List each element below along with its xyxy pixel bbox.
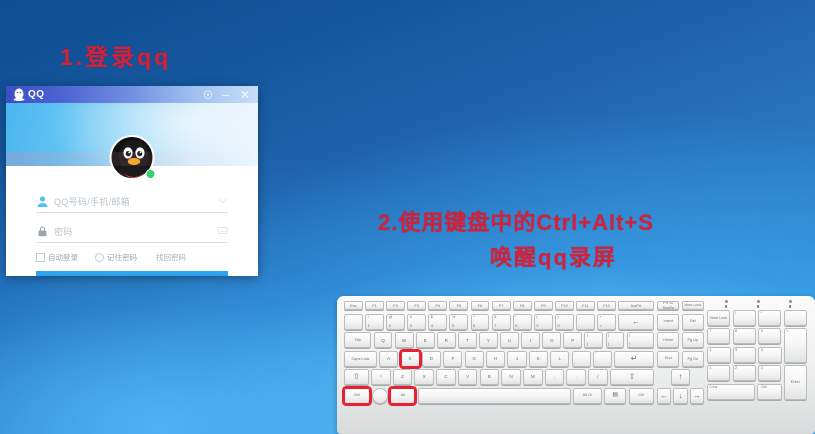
numpad-key-num-lock-label: Num Lock	[710, 316, 727, 320]
key-windows[interactable]	[372, 388, 388, 404]
edit-row-prtsc: Prt Sc SysRq Num Lock	[657, 301, 704, 310]
key-g[interactable]: G	[465, 351, 484, 367]
key-7-shift-label: &	[494, 316, 496, 320]
numpad-key-divide[interactable]: /	[733, 310, 756, 326]
key-f6[interactable]: F6	[471, 301, 490, 310]
key-page-up[interactable]: Pg Up	[682, 332, 704, 348]
key-shift-left[interactable]: ⇧	[344, 369, 369, 385]
key-f11[interactable]: F11	[576, 301, 595, 310]
num-lock-led-icon	[725, 300, 728, 308]
key-9-shift-label: (	[536, 316, 537, 320]
screenshot-root: 1.登录qq QQ	[0, 0, 815, 434]
key-4-label: 4	[431, 324, 433, 328]
key-page-down[interactable]: Pg Dn	[682, 351, 704, 367]
key-bracket-right[interactable]: } ]	[606, 332, 625, 348]
key-esc[interactable]: Esc	[344, 301, 363, 310]
numpad-key-8[interactable]: 8	[733, 328, 756, 344]
numpad-row-3: 4 5 6	[707, 347, 782, 363]
key-num-lock-toggle-label: Num Lock	[684, 303, 701, 307]
key-1-shift-label: !	[368, 316, 369, 320]
key-0-label: 0	[557, 324, 559, 328]
key-insert-print[interactable]: InsPrt	[618, 301, 654, 310]
keyboard-bottom-letter-row: ⇧ < Z X C V B N M , . / ⇧	[344, 369, 654, 385]
key-1-label: 1	[368, 324, 370, 328]
key-delete[interactable]: Del	[682, 314, 704, 330]
password-input-row[interactable]: 密码	[36, 220, 228, 243]
key-print-screen[interactable]: Prt Sc SysRq	[657, 301, 679, 310]
key-caps-lock-label: Caps Lock	[351, 357, 369, 361]
keyboard-qwerty-row: Tab Q W E R T Y U I O P { [ } ]	[344, 332, 654, 348]
key-9[interactable]: ( 9	[534, 314, 553, 330]
numpad-key-9[interactable]: 9	[758, 328, 781, 344]
key-y[interactable]: Y	[479, 332, 498, 348]
key-backtick-label: `	[347, 324, 348, 328]
arrow-spacer-right	[692, 369, 704, 385]
qq-login-options: 自动登录 记住密码 找回密码	[36, 252, 228, 263]
numpad-key-9-label: 9	[761, 330, 763, 334]
key-s[interactable]: S	[401, 351, 420, 367]
numpad-key-5[interactable]: 5	[733, 347, 757, 363]
key-enter[interactable]: ↵	[614, 351, 654, 367]
key-o[interactable]: O	[542, 332, 561, 348]
key-2[interactable]: @ 2	[386, 314, 405, 330]
key-4-shift-label: $	[431, 316, 433, 320]
caption-step-1: 1.登录qq	[60, 38, 171, 72]
key-7-label: 7	[494, 324, 496, 328]
key-l[interactable]: L	[550, 351, 569, 367]
numpad-key-3[interactable]: 3	[758, 365, 781, 381]
key-ctrl-right[interactable]: Ctrl	[629, 388, 655, 404]
key-home[interactable]: Home	[657, 332, 679, 348]
key-x[interactable]: X	[414, 369, 434, 385]
key-h[interactable]: H	[486, 351, 505, 367]
login-button[interactable]: 登录	[36, 271, 228, 276]
key-semicolon-label: ;	[574, 361, 575, 365]
numpad-key-1-label: 1	[710, 367, 712, 371]
auto-login-label: 自动登录	[48, 252, 78, 263]
numpad-key-6[interactable]: 6	[758, 347, 782, 363]
numpad-key-multiply-label: *	[761, 312, 762, 316]
key-bracket-left[interactable]: { [	[584, 332, 603, 348]
key-backslash-shift-label: |	[629, 334, 630, 338]
numpad-key-7[interactable]: 7	[707, 328, 730, 344]
key-6-shift-label: ^	[473, 316, 475, 320]
key-8-label: 8	[515, 324, 517, 328]
key-comma[interactable]: ,	[545, 369, 565, 385]
key-c[interactable]: C	[436, 369, 456, 385]
numpad-key-add[interactable]: +	[784, 328, 807, 362]
user-icon	[36, 195, 49, 208]
caption-step-2-line-2: 唤醒qq录屏	[490, 240, 617, 272]
remember-password-checkbox-box[interactable]	[95, 253, 104, 262]
key-caps-lock[interactable]: Caps Lock	[344, 351, 377, 367]
keyboard-number-row: ~ ` ! 1 @ 2 # 3 $ 4	[344, 314, 654, 330]
numpad-key-5-label: 5	[735, 349, 737, 353]
key-3[interactable]: # 3	[407, 314, 426, 330]
key-minus-shift-label: _	[579, 316, 581, 320]
minimize-icon[interactable]	[220, 89, 232, 100]
key-backslash-label: \	[629, 342, 630, 346]
numpad-key-enter[interactable]: Enter	[784, 365, 807, 399]
key-p[interactable]: P	[563, 332, 582, 348]
key-arrow-down[interactable]: ↓	[673, 388, 687, 404]
qq-login-form: QQ号码/手机/邮箱 密码 自动登录	[6, 190, 258, 276]
key-period[interactable]: .	[566, 369, 586, 385]
key-menu[interactable]: ▤	[604, 388, 626, 404]
key-arrow-left[interactable]: ←	[657, 388, 671, 404]
key-angle-bracket[interactable]: <	[371, 369, 391, 385]
numpad-key-8-label: 8	[735, 330, 737, 334]
remember-password-checkbox[interactable]: 记住密码	[95, 252, 137, 263]
key-slash[interactable]: /	[588, 369, 608, 385]
key-arrow-up[interactable]: ↑	[671, 369, 690, 385]
auto-login-checkbox[interactable]: 自动登录	[36, 252, 78, 263]
numpad-key-4-label: 4	[710, 349, 712, 353]
key-f5[interactable]: F5	[449, 301, 468, 310]
key-tab[interactable]: Tab	[344, 332, 371, 348]
key-b[interactable]: B	[480, 369, 500, 385]
numpad-key-0[interactable]: 0 Ins	[707, 384, 755, 400]
key-equals[interactable]: + =	[597, 314, 616, 330]
account-input-placeholder: QQ号码/手机/邮箱	[54, 195, 130, 208]
keyboard-home-row: Caps Lock A S D F G H J K L : ; " '	[344, 351, 654, 367]
key-quote[interactable]: " '	[593, 351, 612, 367]
numpad-key-2-label: 2	[735, 367, 737, 371]
keyboard-illustration: Esc F1 F2 F3 F4 F5 F6 F7 F8 F9 F10 F11 F…	[337, 296, 815, 434]
numpad-key-add-label: +	[786, 330, 788, 334]
qq-app-name: QQ	[28, 89, 45, 100]
key-quote-shift-label: "	[595, 353, 596, 357]
key-equals-shift-label: +	[600, 316, 602, 320]
key-j[interactable]: J	[507, 351, 526, 367]
key-z[interactable]: Z	[393, 369, 413, 385]
settings-gear-icon[interactable]	[202, 89, 214, 100]
close-icon[interactable]	[239, 89, 251, 100]
key-f2[interactable]: F2	[386, 301, 405, 310]
key-r[interactable]: R	[437, 332, 456, 348]
key-bracket-left-shift-label: {	[587, 334, 588, 338]
key-f12[interactable]: F12	[597, 301, 616, 310]
key-f3[interactable]: F3	[407, 301, 426, 310]
key-e[interactable]: E	[416, 332, 435, 348]
key-semicolon-shift-label: :	[574, 353, 575, 357]
auto-login-checkbox-box[interactable]	[36, 253, 45, 262]
key-equals-label: =	[600, 324, 602, 328]
key-print-screen-label: Prt Sc SysRq	[658, 301, 678, 310]
edit-row-arrow-up: ↑	[657, 369, 704, 385]
numpad-key-1[interactable]: 1	[707, 365, 730, 381]
key-9-label: 9	[536, 324, 538, 328]
key-5-shift-label: %	[452, 316, 455, 320]
key-d[interactable]: D	[422, 351, 441, 367]
numpad-key-subtract[interactable]: -	[784, 310, 807, 326]
keyboard-numpad: Num Lock / * - 7 8	[707, 310, 807, 402]
key-bracket-right-label: ]	[608, 342, 609, 346]
numpad-key-multiply[interactable]: *	[758, 310, 781, 326]
account-input-row[interactable]: QQ号码/手机/邮箱	[36, 190, 228, 213]
keyboard-modifier-row: Ctrl Alt Alt Gr ▤ Ctrl	[344, 388, 654, 404]
key-quote-label: '	[595, 361, 596, 365]
caps-lock-led-icon	[757, 300, 760, 308]
key-backtick[interactable]: ~ `	[344, 314, 363, 330]
numpad-key-subtract-label: -	[786, 312, 787, 316]
qq-title-bar: QQ	[6, 86, 258, 103]
keyboard-edit-cluster: Prt Sc SysRq Num Lock Insert Del Home Pg…	[657, 301, 704, 406]
key-backslash[interactable]: | \	[627, 332, 654, 348]
key-6[interactable]: ^ 6	[471, 314, 490, 330]
key-7[interactable]: & 7	[492, 314, 511, 330]
key-8[interactable]: * 8	[513, 314, 532, 330]
edit-row-1: Insert Del	[657, 314, 704, 330]
key-arrow-right[interactable]: →	[690, 388, 704, 404]
key-backtick-shift-label: ~	[347, 316, 349, 320]
password-input-placeholder: 密码	[54, 225, 73, 238]
key-f4[interactable]: F4	[428, 301, 447, 310]
lock-icon	[36, 225, 49, 238]
key-8-shift-label: *	[515, 316, 516, 320]
key-0[interactable]: ) 0	[555, 314, 574, 330]
keyboard-function-row: Esc F1 F2 F3 F4 F5 F6 F7 F8 F9 F10 F11 F…	[344, 301, 654, 310]
numpad-key-decimal-label: . Del	[760, 386, 767, 390]
key-0-shift-label: )	[557, 316, 558, 320]
key-page-down-label: Pg Dn	[688, 357, 699, 361]
qq-login-window: QQ	[6, 86, 258, 276]
key-minus-label: -	[579, 324, 580, 328]
key-1[interactable]: ! 1	[365, 314, 384, 330]
arrow-spacer-left	[657, 369, 669, 385]
key-page-up-label: Pg Up	[688, 338, 699, 342]
keyboard-main-block: Esc F1 F2 F3 F4 F5 F6 F7 F8 F9 F10 F11 F…	[344, 301, 654, 406]
numpad-key-0-label: 0 Ins	[710, 386, 718, 390]
key-f1[interactable]: F1	[365, 301, 384, 310]
key-f8[interactable]: F8	[513, 301, 532, 310]
key-semicolon[interactable]: : ;	[572, 351, 591, 367]
numpad-row-1: Num Lock / * -	[707, 310, 807, 326]
numpad-key-decimal[interactable]: . Del	[757, 384, 782, 400]
qq-login-banner	[6, 103, 258, 166]
key-5[interactable]: % 5	[449, 314, 468, 330]
numpad-row-5: 0 Ins . Del	[707, 384, 782, 400]
edit-row-3: End Pg Dn	[657, 351, 704, 367]
key-v[interactable]: V	[458, 369, 478, 385]
key-num-lock-toggle[interactable]: Num Lock	[682, 301, 704, 310]
key-alt-gr[interactable]: Alt Gr	[573, 388, 602, 404]
numpad-key-num-lock[interactable]: Num Lock	[707, 310, 730, 326]
forgot-password-link[interactable]: 找回密码	[156, 252, 186, 263]
key-2-label: 2	[389, 324, 391, 328]
key-alt-left[interactable]: Alt	[390, 388, 416, 404]
keyboard-security-icon[interactable]	[217, 225, 228, 236]
numpad-key-7-label: 7	[710, 330, 712, 334]
key-space[interactable]	[418, 388, 571, 404]
key-minus[interactable]: _ -	[576, 314, 595, 330]
key-insert[interactable]: Insert	[657, 314, 679, 330]
remember-password-label: 记住密码	[107, 252, 137, 263]
key-backspace[interactable]: ←	[618, 314, 654, 330]
key-q[interactable]: Q	[374, 332, 393, 348]
numpad-key-6-label: 6	[761, 349, 763, 353]
key-ctrl-left[interactable]: Ctrl	[344, 388, 370, 404]
key-shift-right[interactable]: ⇧	[610, 369, 654, 385]
qq-penguin-logo-icon	[13, 88, 25, 101]
key-n[interactable]: N	[501, 369, 521, 385]
key-3-label: 3	[410, 324, 412, 328]
numpad-key-divide-label: /	[735, 312, 736, 316]
key-a[interactable]: A	[379, 351, 398, 367]
numpad-key-4[interactable]: 4	[707, 347, 731, 363]
online-status-dot	[146, 169, 156, 179]
key-end[interactable]: End	[657, 351, 679, 367]
key-4[interactable]: $ 4	[428, 314, 447, 330]
edit-row-2: Home Pg Up	[657, 332, 704, 348]
key-2-shift-label: @	[389, 316, 393, 320]
key-5-label: 5	[452, 324, 454, 328]
key-i[interactable]: I	[521, 332, 540, 348]
key-w[interactable]: W	[395, 332, 414, 348]
key-3-shift-label: #	[410, 316, 412, 320]
avatar-wrapper[interactable]	[110, 135, 155, 180]
chevron-down-icon[interactable]	[217, 195, 228, 206]
key-k[interactable]: K	[529, 351, 548, 367]
key-f7[interactable]: F7	[492, 301, 511, 310]
key-f[interactable]: F	[443, 351, 462, 367]
key-f9[interactable]: F9	[534, 301, 553, 310]
numpad-key-3-label: 3	[761, 367, 763, 371]
key-bracket-left-label: [	[587, 342, 588, 346]
caption-step-2-line-1: 2.使用键盘中的Ctrl+Alt+S	[378, 205, 654, 237]
numpad-key-2[interactable]: 2	[733, 365, 756, 381]
key-t[interactable]: T	[458, 332, 477, 348]
key-bracket-right-shift-label: }	[608, 334, 609, 338]
key-f10[interactable]: F10	[555, 301, 574, 310]
key-u[interactable]: U	[500, 332, 519, 348]
keyboard-led-indicators	[710, 299, 806, 309]
key-m[interactable]: M	[523, 369, 543, 385]
edit-row-arrows: ← ↓ →	[657, 388, 704, 404]
key-6-label: 6	[473, 324, 475, 328]
scroll-lock-led-icon	[789, 300, 792, 308]
